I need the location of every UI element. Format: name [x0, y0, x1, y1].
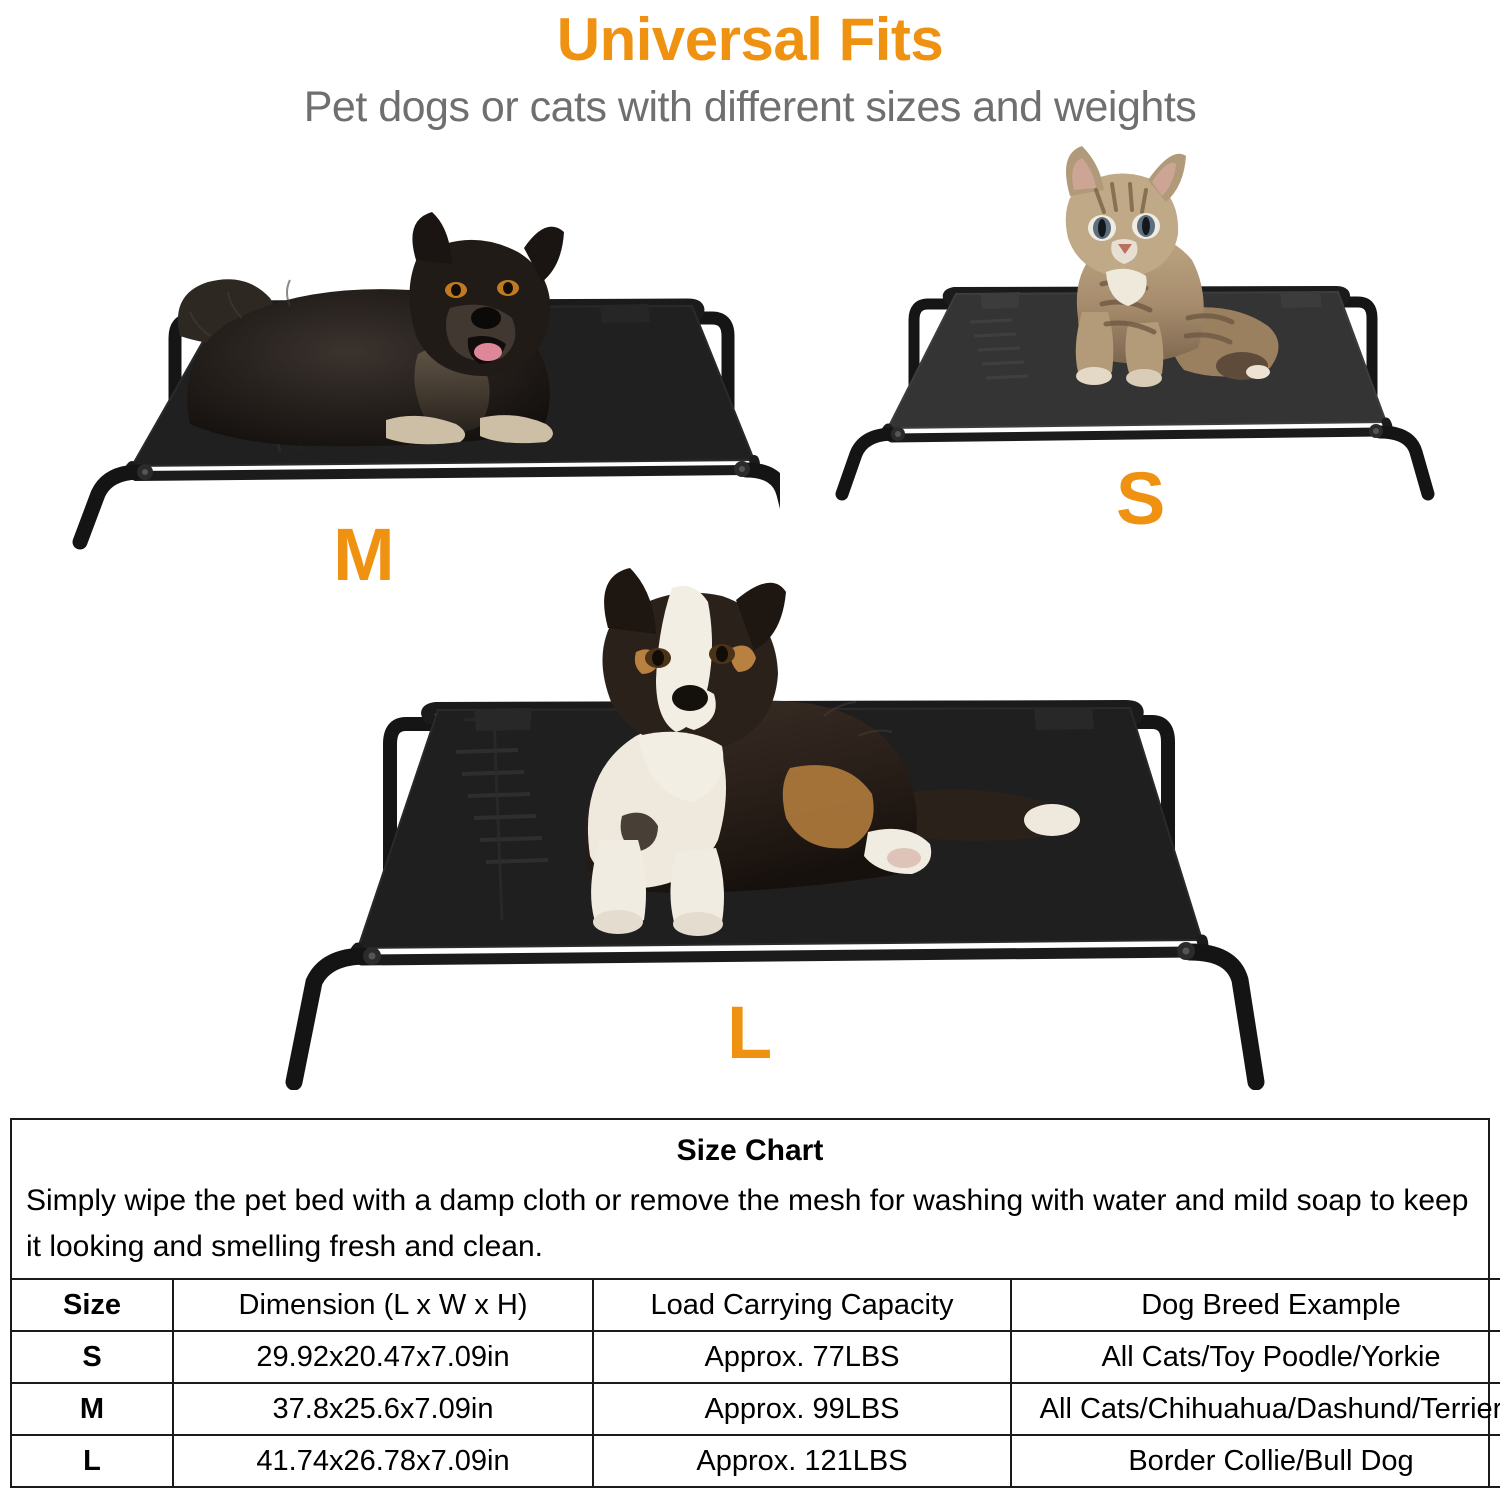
pet-photo-tabby-kitten [1020, 132, 1310, 404]
column-header-breed: Dog Breed Example [1011, 1279, 1500, 1331]
cell-size: L [11, 1435, 173, 1487]
column-header-capacity: Load Carrying Capacity [593, 1279, 1011, 1331]
product-infographic: Universal Fits Pet dogs or cats with dif… [0, 0, 1500, 1500]
cell-dimension: 41.74x26.78x7.09in [173, 1435, 593, 1487]
cell-breed: Border Collie/Bull Dog [1011, 1435, 1500, 1487]
table-row: M 37.8x25.6x7.09in Approx. 99LBS All Cat… [11, 1383, 1500, 1435]
size-label-small: S [1116, 462, 1165, 536]
cell-size: M [11, 1383, 173, 1435]
size-label-large: L [727, 996, 772, 1070]
size-chart-description: Simply wipe the pet bed with a damp clot… [12, 1168, 1488, 1269]
size-chart-panel: Size Chart Simply wipe the pet bed with … [10, 1118, 1490, 1488]
column-header-size: Size [11, 1279, 173, 1331]
pet-photo-australian-shepherd-puppy [460, 540, 1100, 940]
column-header-dimension: Dimension (L x W x H) [173, 1279, 593, 1331]
cell-size: S [11, 1331, 173, 1383]
page-subtitle: Pet dogs or cats with different sizes an… [0, 84, 1500, 131]
cell-capacity: Approx. 121LBS [593, 1435, 1011, 1487]
size-label-medium: M [333, 518, 395, 592]
cell-capacity: Approx. 77LBS [593, 1331, 1011, 1383]
size-chart-table: Size Dimension (L x W x H) Load Carrying… [10, 1278, 1500, 1488]
cell-dimension: 29.92x20.47x7.09in [173, 1331, 593, 1383]
page-title: Universal Fits [0, 8, 1500, 71]
table-header-row: Size Dimension (L x W x H) Load Carrying… [11, 1279, 1500, 1331]
cell-breed: All Cats/Chihuahua/Dashund/Terrier [1011, 1383, 1500, 1435]
table-row: S 29.92x20.47x7.09in Approx. 77LBS All C… [11, 1331, 1500, 1383]
cell-capacity: Approx. 99LBS [593, 1383, 1011, 1435]
size-chart-heading: Size Chart [12, 1120, 1488, 1168]
cell-dimension: 37.8x25.6x7.09in [173, 1383, 593, 1435]
pet-photo-black-dog [150, 186, 670, 476]
table-row: L 41.74x26.78x7.09in Approx. 121LBS Bord… [11, 1435, 1500, 1487]
cell-breed: All Cats/Toy Poodle/Yorkie [1011, 1331, 1500, 1383]
